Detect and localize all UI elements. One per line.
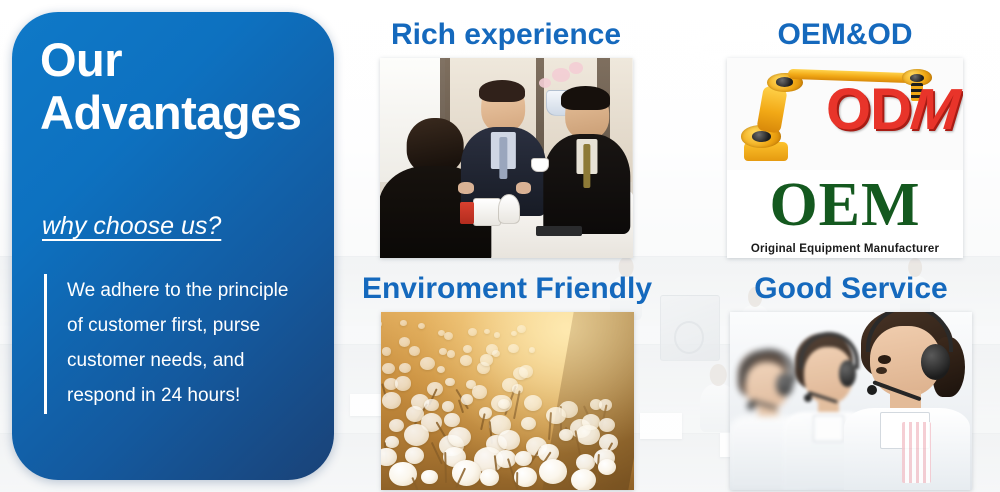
card-oem-odm: OEM&OD ODM OEM Original Equipment Manufa… xyxy=(700,18,990,258)
robot-arm-lower-segment-icon xyxy=(756,85,787,133)
agent-foreground xyxy=(846,312,967,490)
odm-letter-m: M xyxy=(907,76,961,143)
card-title-oem-odm: OEM&OD xyxy=(700,18,990,52)
panel-title-line-1: Our xyxy=(40,34,322,87)
photo-call-center-agents xyxy=(730,312,972,490)
panel-title: Our Advantages xyxy=(40,34,322,139)
card-title-good-service: Good Service xyxy=(706,272,996,306)
oem-subtitle: Original Equipment Manufacturer xyxy=(751,243,939,255)
oem-logo-section: OEM Original Equipment Manufacturer xyxy=(727,170,963,258)
advantages-banner: Our Advantages why choose us? We adhere … xyxy=(0,0,1000,492)
card-title-rich-experience: Rich experience xyxy=(356,18,656,52)
person-center xyxy=(463,82,544,206)
person-right xyxy=(546,90,627,226)
panel-body-text: We adhere to the principle of customer f… xyxy=(67,274,300,414)
vertical-rule-divider xyxy=(44,274,47,414)
photo-business-meeting xyxy=(380,58,633,258)
panel-body: We adhere to the principle of customer f… xyxy=(44,274,300,414)
card-title-enviroment-friendly: Enviroment Friendly xyxy=(352,272,662,306)
card-rich-experience: Rich experience xyxy=(356,18,656,258)
photo-cotton-field xyxy=(381,312,634,490)
odm-wordmark: ODM xyxy=(826,76,958,143)
panel-title-line-2: Advantages xyxy=(40,87,322,140)
photo-odm-oem-logo: ODM OEM Original Equipment Manufacturer xyxy=(727,58,963,258)
oem-wordmark: OEM xyxy=(769,174,920,236)
card-enviroment-friendly: Enviroment Friendly xyxy=(352,272,662,490)
card-good-service: Good Service xyxy=(706,272,996,490)
panel-subtitle: why choose us? xyxy=(42,212,221,241)
odm-logo-section: ODM xyxy=(727,58,963,170)
our-advantages-panel: Our Advantages why choose us? We adhere … xyxy=(12,12,334,480)
